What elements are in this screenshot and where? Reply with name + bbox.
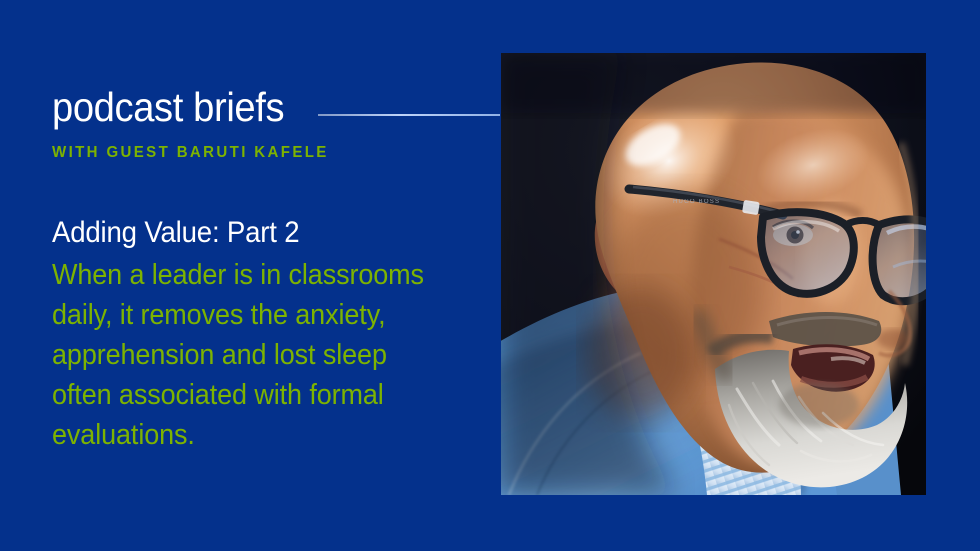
left-lens	[761, 212, 854, 294]
episode-title: Adding Value: Part 2	[52, 215, 299, 251]
brand-row: podcast briefs	[52, 84, 472, 132]
portrait-illustration: HUGO BOSS	[501, 53, 926, 495]
guest-portrait-photo: HUGO BOSS	[501, 53, 926, 495]
podcast-brief-slide: podcast briefs WITH GUEST BARUTI KAFELE …	[0, 0, 980, 551]
guest-subtitle: WITH GUEST BARUTI KAFELE	[52, 144, 329, 162]
brand-title: podcast briefs	[52, 84, 284, 130]
text-column: podcast briefs WITH GUEST BARUTI KAFELE …	[52, 84, 472, 455]
horizontal-rule-icon	[318, 114, 500, 116]
episode-body-text: When a leader is in classrooms daily, it…	[52, 255, 452, 455]
glasses-brand-text: HUGO BOSS	[673, 199, 720, 205]
